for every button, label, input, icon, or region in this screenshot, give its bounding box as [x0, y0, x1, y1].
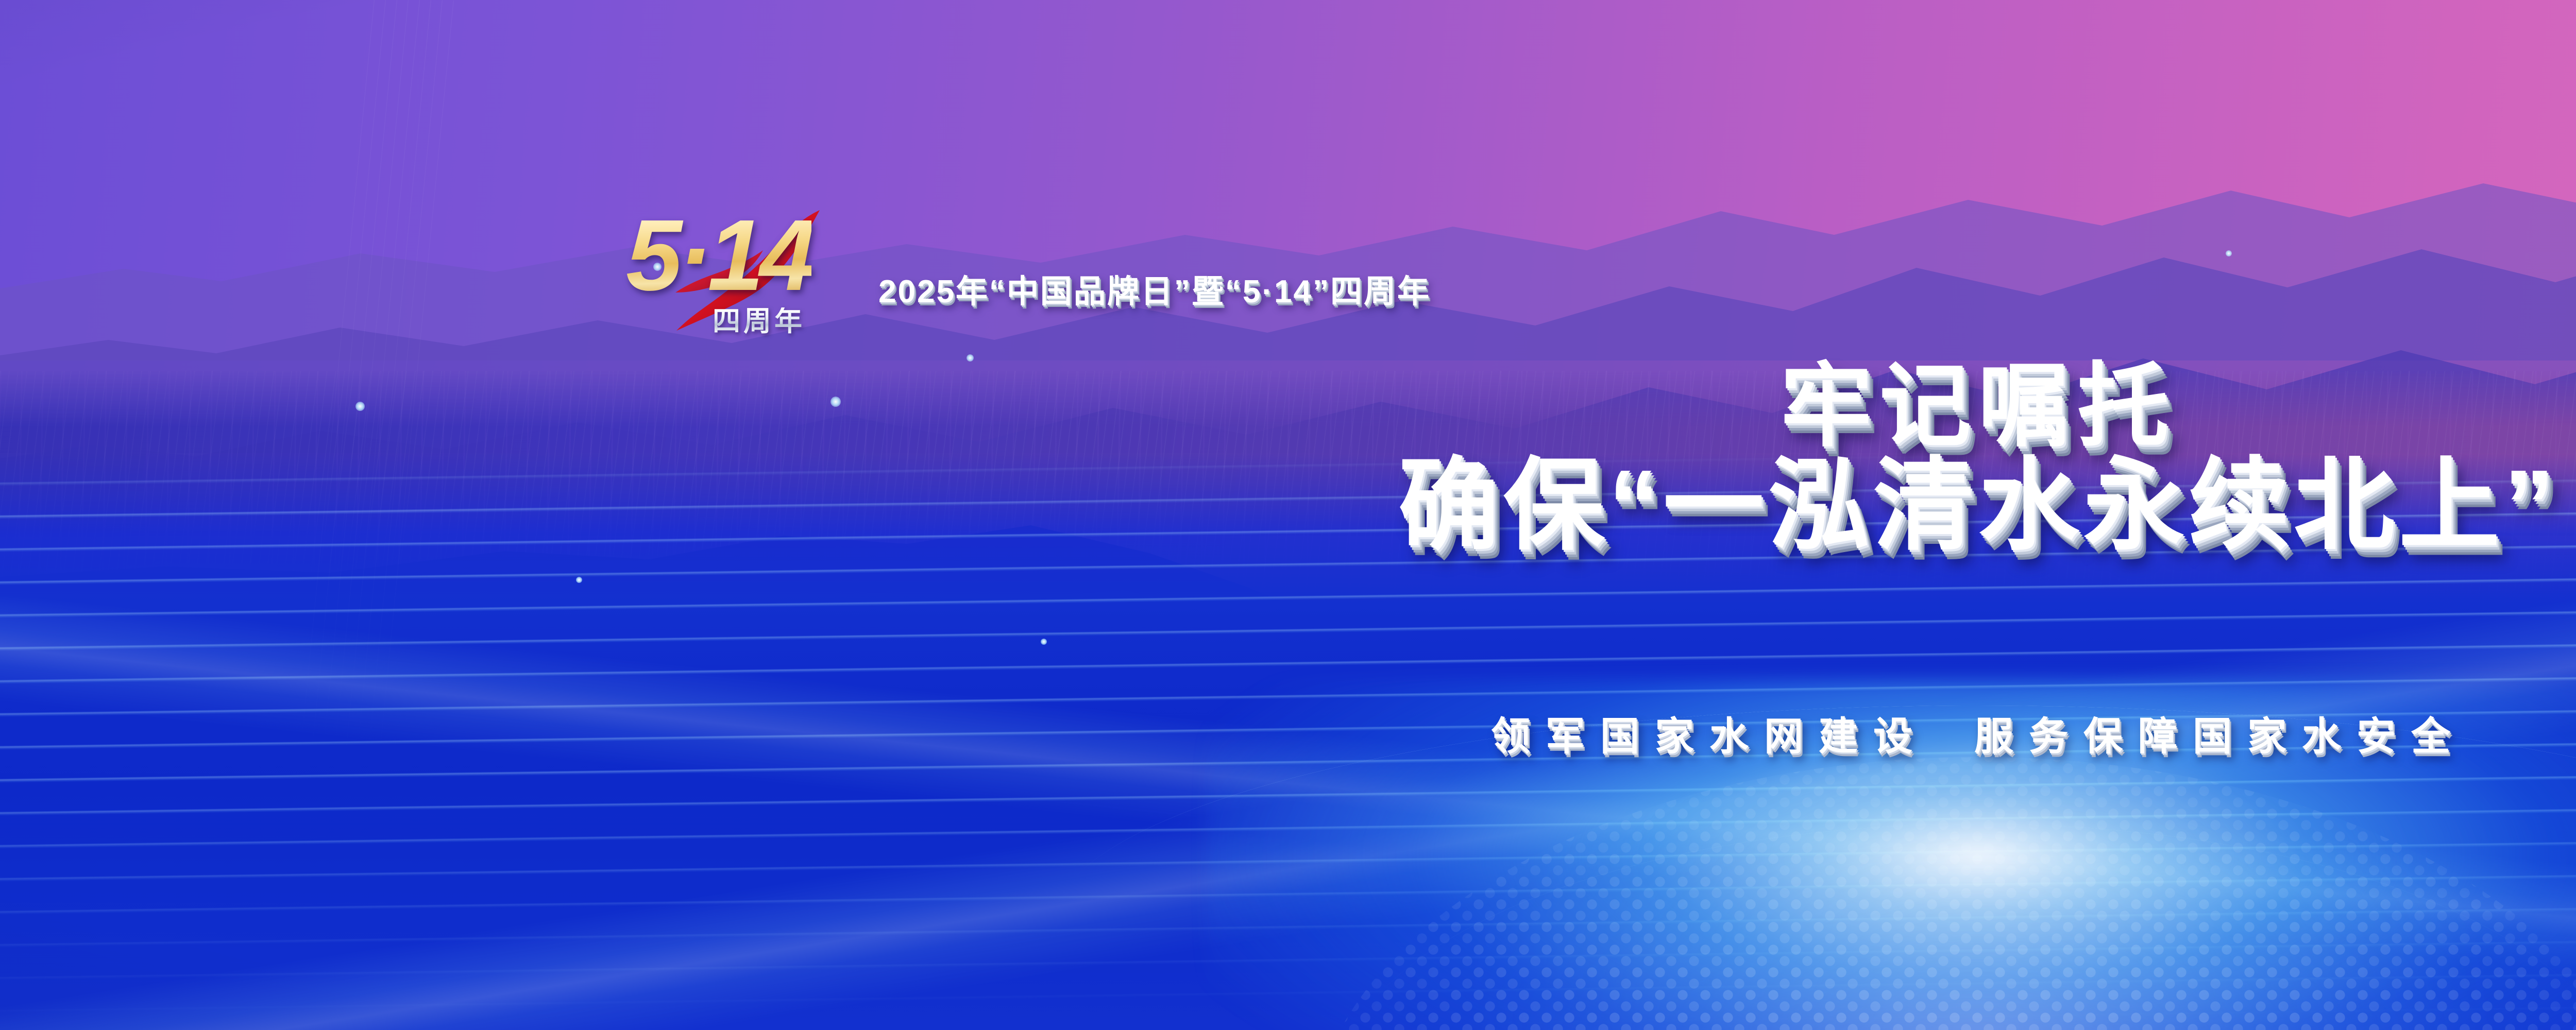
subtitle-right: 服务保障国家水安全	[1974, 715, 2466, 759]
banner-stage: 5·14 四周年 2025年“中国品牌日”暨“5·14”四周年	[0, 0, 2576, 1030]
anniversary-label: 四周年	[713, 307, 805, 335]
subtitle-left: 领军国家水网建设	[1491, 715, 1928, 759]
anniversary-logo: 5·14 四周年	[626, 202, 832, 351]
event-title: 2025年“中国品牌日”暨“5·14”四周年	[878, 265, 1431, 312]
subtitle-block: 领军国家水网建设服务保障国家水安全	[0, 705, 2576, 761]
anniversary-number: 5·14	[626, 205, 811, 306]
